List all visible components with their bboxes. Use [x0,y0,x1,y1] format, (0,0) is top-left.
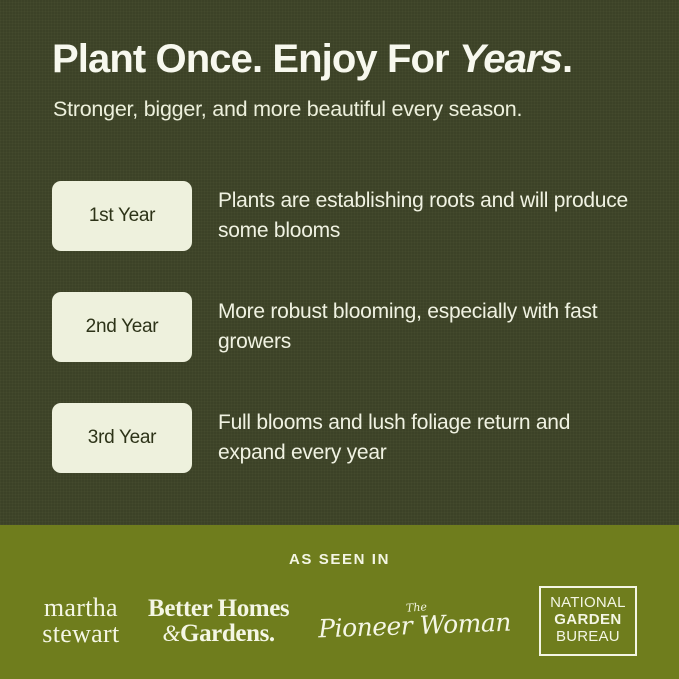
better-homes-gardens-logo: Better Homes &Gardens. [148,590,289,652]
year-description-1: Plants are establishing roots and will p… [218,181,638,247]
year-badge-1: 1st Year [52,181,192,251]
year-description-3: Full blooms and lush foliage return and … [218,403,638,469]
publication-logo-row: martha stewart Better Homes &Gardens. Th… [0,590,679,652]
year-badge-2: 2nd Year [52,292,192,362]
headline-part-2: . [562,37,572,81]
ngb-line-3: BUREAU [550,629,626,646]
as-seen-in-heading: AS SEEN IN [289,551,390,568]
ngb-line-2: GARDEN [550,612,626,629]
poster-root: Plant Once. Enjoy For Years. Stronger, b… [0,0,679,679]
bhg-line-1: Better Homes [148,596,289,621]
national-garden-bureau-logo: NATIONAL GARDEN BUREAU [539,590,637,652]
pioneer-woman-logo: The Pioneer Woman [318,590,511,652]
timeline-row: 3rd Year Full blooms and lush foliage re… [52,403,649,473]
martha-stewart-line-2: stewart [42,621,119,647]
year-description-2: More robust blooming, especially with fa… [218,292,638,358]
page-subtitle: Stronger, bigger, and more beautiful eve… [53,97,522,122]
ngb-box: NATIONAL GARDEN BUREAU [539,586,637,655]
year-badge-3: 3rd Year [52,403,192,473]
ampersand-glyph: & [163,621,181,646]
hero-section: Plant Once. Enjoy For Years. Stronger, b… [0,0,679,525]
headline-emphasis-word: Years [459,37,562,81]
timeline-row: 2nd Year More robust blooming, especiall… [52,292,649,362]
ngb-line-1: NATIONAL [550,595,626,612]
bhg-line-2: &Gardens. [148,621,289,646]
page-title: Plant Once. Enjoy For Years. [52,38,572,81]
timeline-row: 1st Year Plants are establishing roots a… [52,181,649,251]
martha-stewart-line-1: martha [42,595,119,621]
timeline-list: 1st Year Plants are establishing roots a… [52,181,649,473]
as-seen-in-section: AS SEEN IN martha stewart Better Homes &… [0,525,679,679]
martha-stewart-logo: martha stewart [42,590,119,652]
headline-part-1: Plant Once. Enjoy For [52,37,459,81]
bhg-gardens-word: Gardens. [180,620,275,647]
pioneer-woman-main-text: Pioneer Woman [317,601,511,642]
